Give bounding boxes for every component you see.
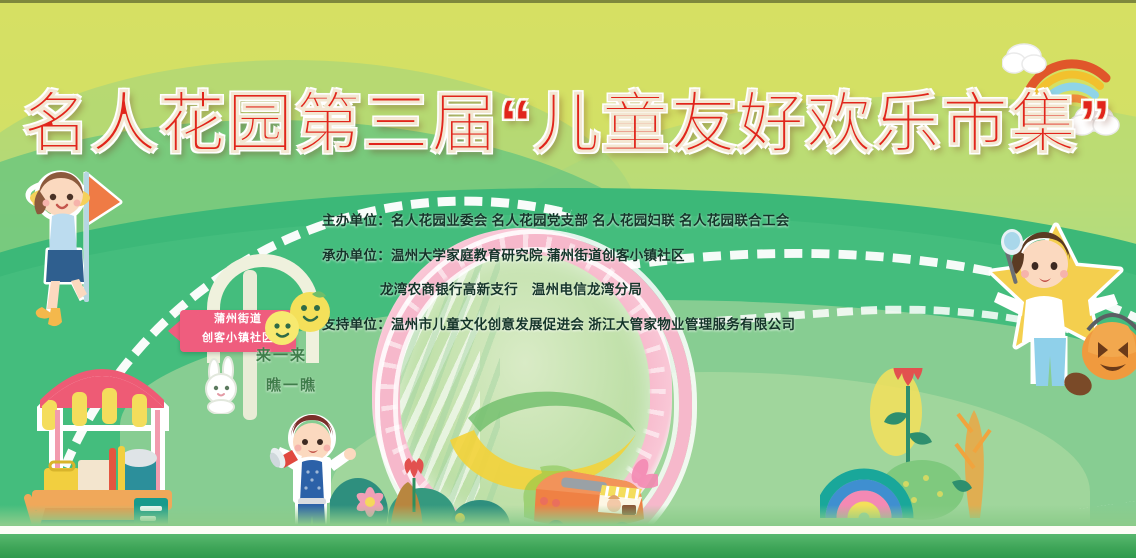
poster-canvas: 名人花园第三届“儿童友好欢乐市集” 主办单位：名人花园业委会 名人花园党支部 名…	[0, 0, 1136, 558]
tree-bush-group-right	[820, 368, 1020, 528]
footer-green-strip	[0, 534, 1136, 558]
top-rule	[0, 0, 1136, 3]
rabbit-icon	[196, 356, 250, 414]
info-line-support: 支持单位：温州市儿童文化创意发展促进会 浙江大管家物业管理服务有限公司	[322, 318, 840, 332]
girl-with-flag-icon	[8, 150, 128, 340]
info-line-organizer: 承办单位：温州大学家庭教育研究院 蒲州街道创客小镇社区	[322, 249, 840, 263]
lemon-face-icon	[262, 290, 332, 350]
callout-text: 来一来 瞧一瞧	[256, 344, 352, 395]
callout-line-1: 来一来	[256, 344, 352, 365]
callout-line-2: 瞧一瞧	[266, 374, 352, 395]
info-line-host: 主办单位：名人花园业委会 名人花园党支部 名人花园妇联 名人花园联合工会	[322, 214, 840, 228]
info-line-organizer-2: 龙湾农商银行高新支行 温州电信龙湾分局	[380, 283, 840, 297]
organizer-info-block: 主办单位：名人花园业委会 名人花园党支部 名人花园妇联 名人花园联合工会 承办单…	[300, 214, 840, 331]
page-title: 名人花园第三届“儿童友好欢乐市集”	[0, 70, 1136, 166]
